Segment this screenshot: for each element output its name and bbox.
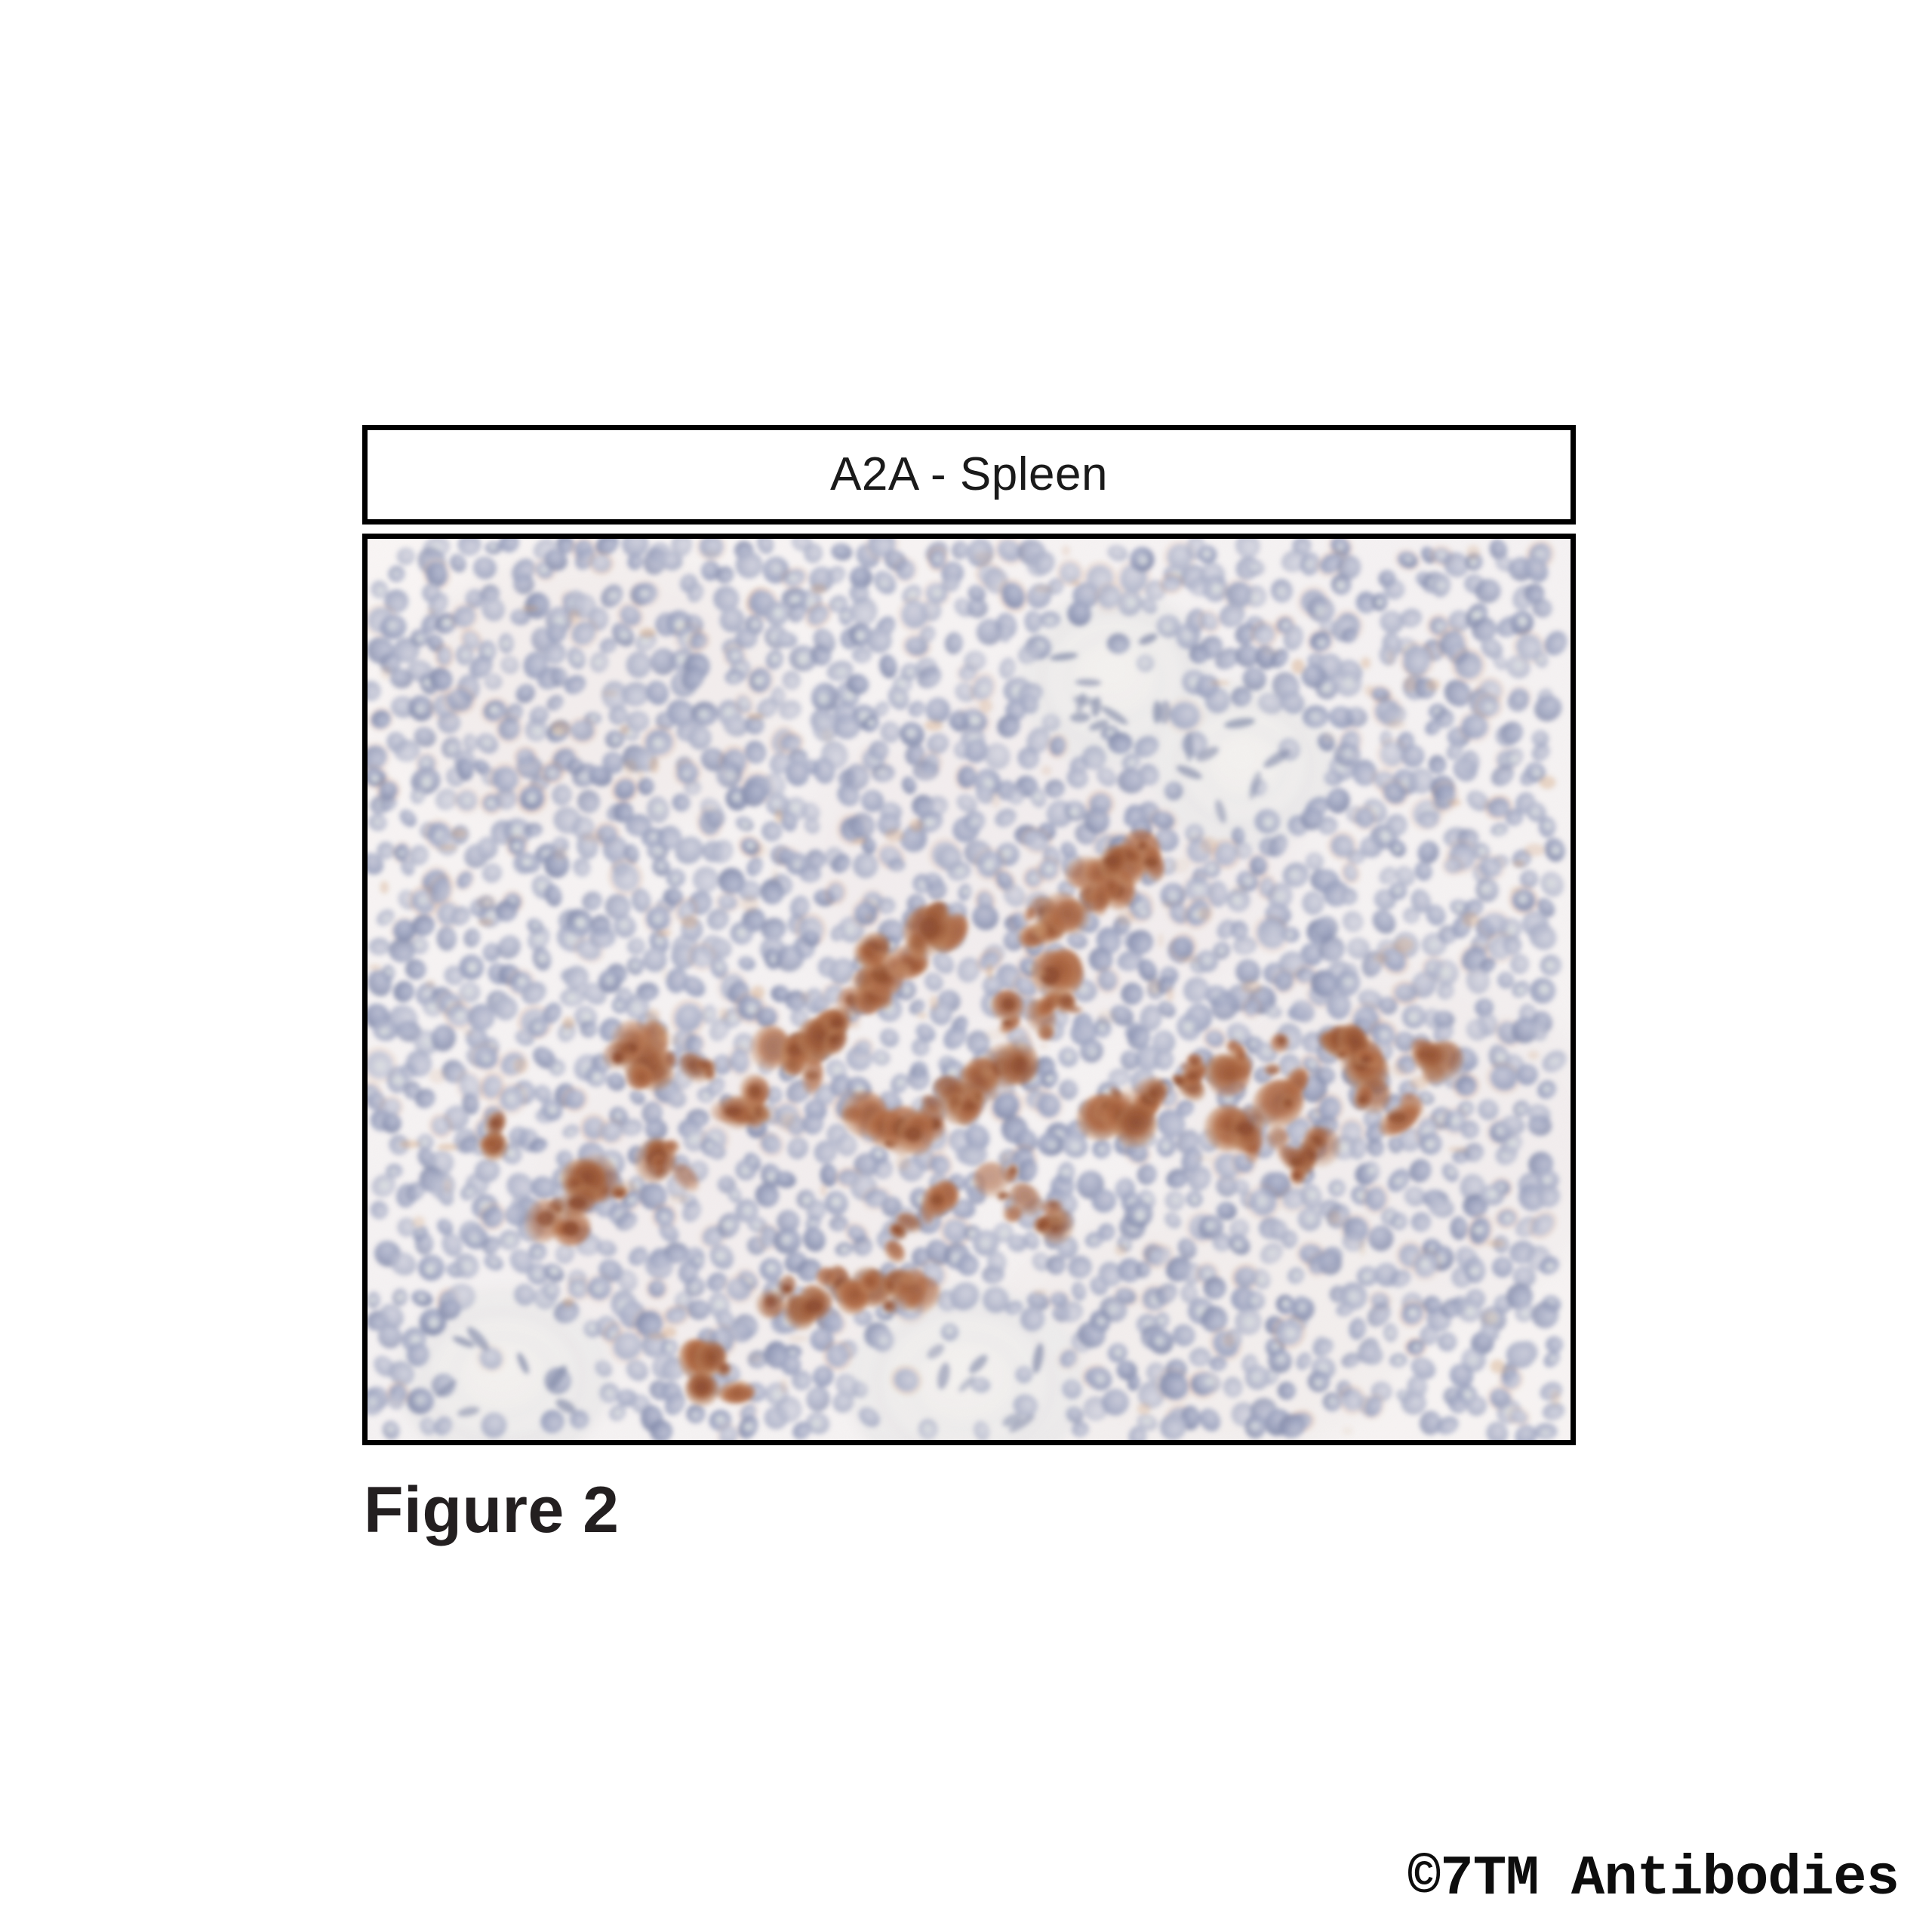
figure-title-text: A2A - Spleen <box>830 451 1108 498</box>
figure-caption-label: Figure 2 <box>364 1473 620 1548</box>
ihc-micrograph-image <box>368 539 1571 1440</box>
copyright-notice: ©7TM Antibodies <box>1407 1847 1899 1911</box>
figure-panel: A2A - Spleen <box>362 425 1576 1445</box>
figure-title-bar: A2A - Spleen <box>362 425 1576 525</box>
micrograph-frame <box>362 534 1576 1445</box>
